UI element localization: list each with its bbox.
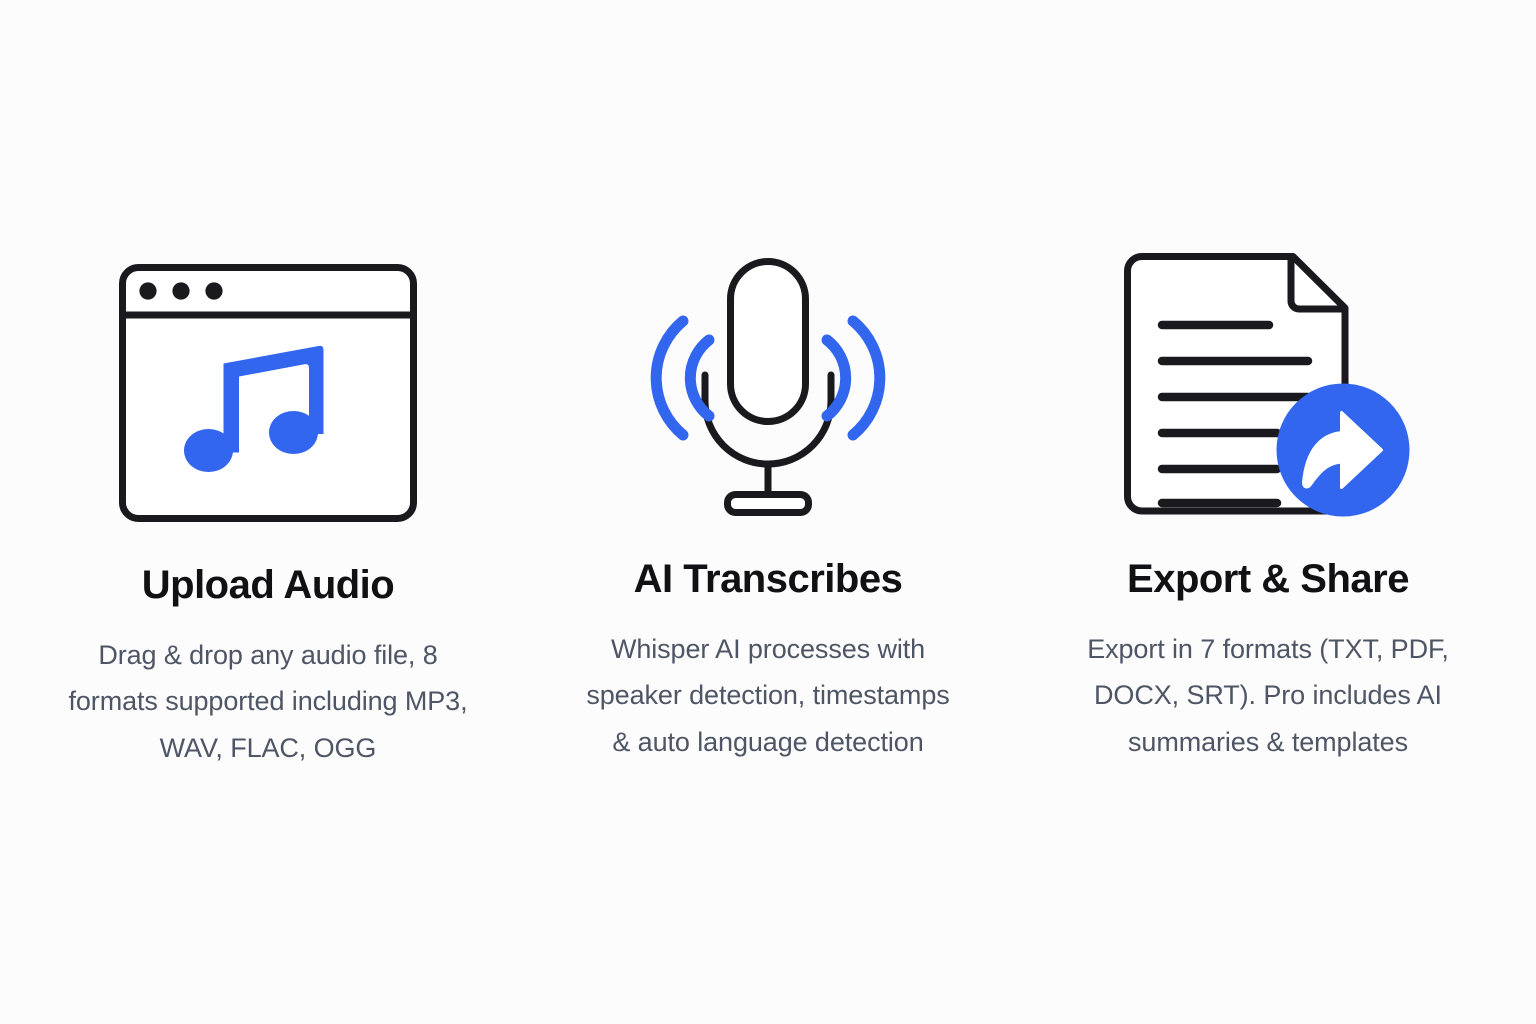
microphone-soundwaves-icon (608, 252, 928, 522)
document-share-icon (1108, 252, 1428, 522)
step-description: Drag & drop any audio file, 8 formats su… (58, 632, 478, 771)
step-title: Upload Audio (142, 564, 394, 606)
step-card-export-share: Export & Share Export in 7 formats (TXT,… (1018, 0, 1518, 765)
step-description: Export in 7 formats (TXT, PDF, DOCX, SRT… (1054, 626, 1482, 765)
how-it-works-steps: Upload Audio Drag & drop any audio file,… (0, 0, 1536, 1024)
browser-window-music-note-icon (108, 258, 428, 528)
step-card-upload-audio: Upload Audio Drag & drop any audio file,… (18, 0, 518, 771)
step-title: Export & Share (1127, 558, 1409, 600)
step-card-ai-transcribes: AI Transcribes Whisper AI processes with… (518, 0, 1018, 765)
step-title: AI Transcribes (634, 558, 903, 600)
step-description: Whisper AI processes with speaker detect… (582, 626, 954, 765)
